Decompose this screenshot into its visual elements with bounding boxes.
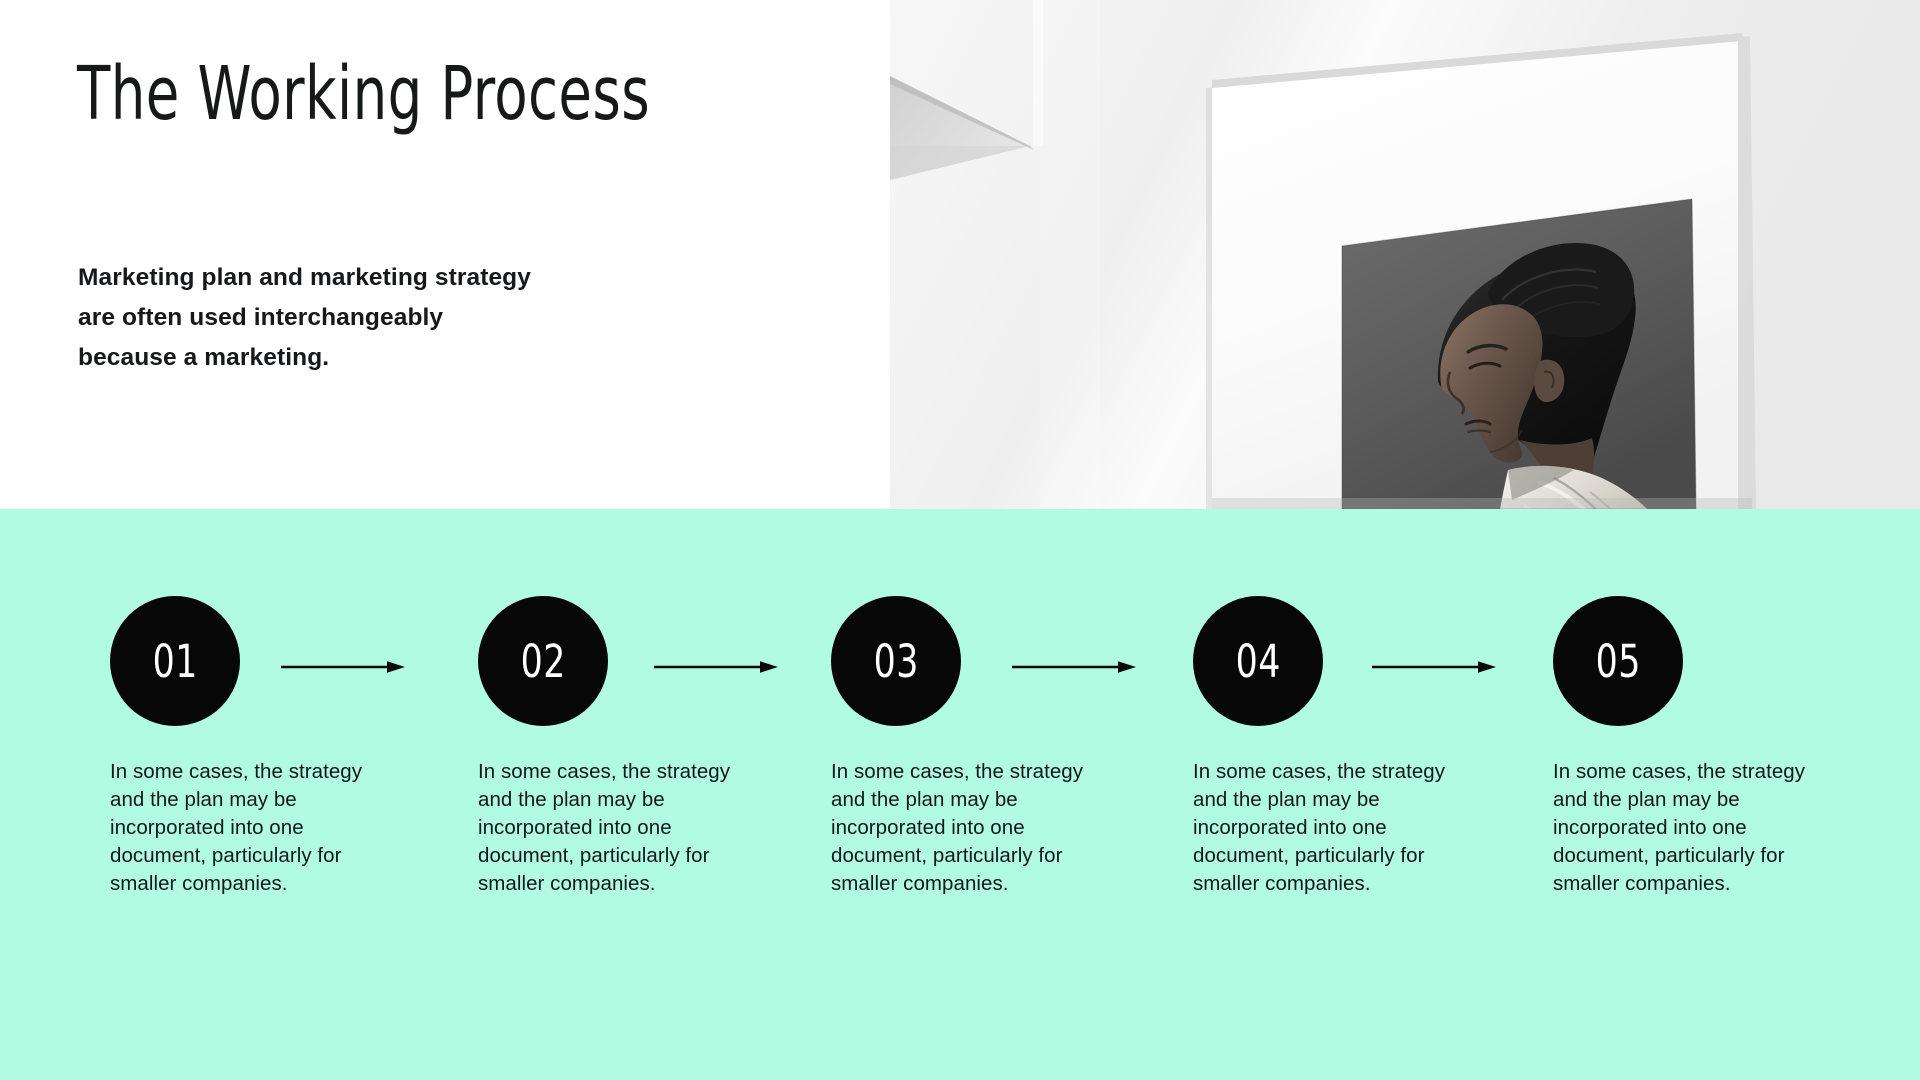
process-step-02[interactable]: 02 In some cases, the strategy and the p… xyxy=(478,596,778,898)
arrow-step-2-to-3-icon xyxy=(654,660,778,674)
process-step-01[interactable]: 01 In some cases, the strategy and the p… xyxy=(110,596,410,898)
step-number-label: 02 xyxy=(520,639,565,684)
step-description-01: In some cases, the strategy and the plan… xyxy=(110,758,372,898)
process-step-03[interactable]: 03 In some cases, the strategy and the p… xyxy=(831,596,1131,898)
framed-portrait-photo xyxy=(890,0,1920,509)
process-section: 01 In some cases, the strategy and the p… xyxy=(0,509,1920,1080)
arrow-right-icon xyxy=(281,660,405,674)
step-number-badge-01[interactable]: 01 xyxy=(110,596,240,726)
arrow-right-icon xyxy=(1012,660,1136,674)
arrow-step-1-to-2-icon xyxy=(281,660,405,674)
arrow-step-4-to-5-icon xyxy=(1372,660,1496,674)
step-description-05: In some cases, the strategy and the plan… xyxy=(1553,758,1815,898)
step-description-03: In some cases, the strategy and the plan… xyxy=(831,758,1093,898)
arrow-step-3-to-4-icon xyxy=(1012,660,1136,674)
subtitle-line-1: Marketing plan and marketing strategy xyxy=(78,258,698,298)
subtitle-paragraph: Marketing plan and marketing strategy ar… xyxy=(78,258,698,378)
step-number-badge-03[interactable]: 03 xyxy=(831,596,961,726)
arrow-right-icon xyxy=(654,660,778,674)
photo-illustration xyxy=(890,0,1920,509)
step-number-label: 03 xyxy=(873,639,918,684)
step-number-label: 01 xyxy=(152,639,197,684)
page-title: The Working Process xyxy=(77,57,650,131)
step-number-badge-04[interactable]: 04 xyxy=(1193,596,1323,726)
process-steps-row: 01 In some cases, the strategy and the p… xyxy=(0,509,1920,1080)
step-description-04: In some cases, the strategy and the plan… xyxy=(1193,758,1455,898)
step-number-badge-05[interactable]: 05 xyxy=(1553,596,1683,726)
step-description-02: In some cases, the strategy and the plan… xyxy=(478,758,740,898)
header-section: The Working Process Marketing plan and m… xyxy=(0,0,1920,509)
step-number-label: 05 xyxy=(1595,639,1640,684)
subtitle-line-3: because a marketing. xyxy=(78,338,698,378)
step-number-label: 04 xyxy=(1235,639,1280,684)
slide-canvas: The Working Process Marketing plan and m… xyxy=(0,0,1920,1080)
process-step-05[interactable]: 05 In some cases, the strategy and the p… xyxy=(1553,596,1853,898)
process-step-04[interactable]: 04 In some cases, the strategy and the p… xyxy=(1193,596,1493,898)
step-number-badge-02[interactable]: 02 xyxy=(478,596,608,726)
arrow-right-icon xyxy=(1372,660,1496,674)
subtitle-line-2: are often used interchangeably xyxy=(78,298,698,338)
